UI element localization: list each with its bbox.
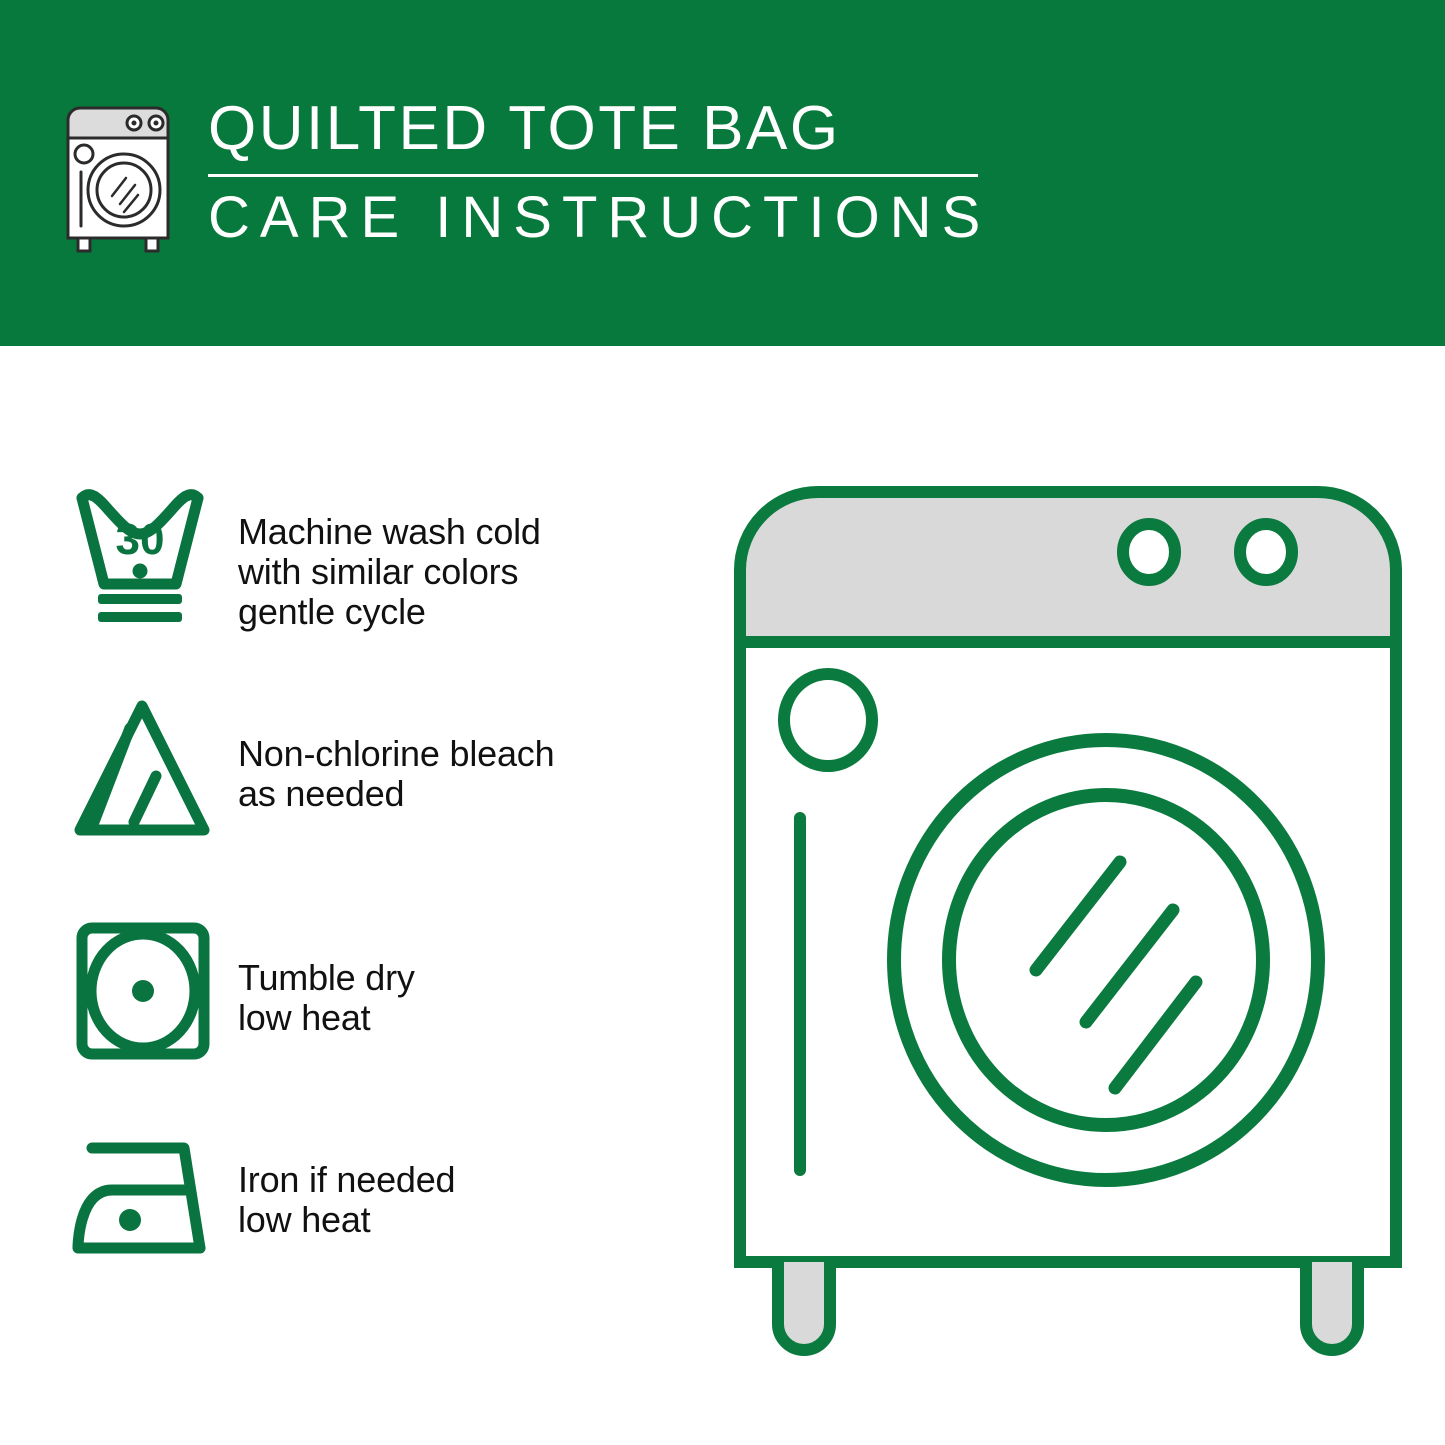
wash-basin-icon: 30 [68,482,226,632]
care-item-tumble-dry: Tumble dry low heat [68,916,688,1128]
iron-icon [68,1128,226,1268]
care-item-text: Non-chlorine bleach as needed [238,694,688,814]
title-divider [208,174,978,177]
page-subtitle: CARE INSTRUCTIONS [208,187,978,249]
wash-temp-label: 30 [116,515,165,564]
care-symbol-slot: 30 [68,482,238,632]
low-heat-dot [132,980,154,1002]
small-dial [784,674,872,766]
gentle-bar-2 [98,612,182,622]
leg-right [1306,1262,1358,1350]
care-item-text: Tumble dry low heat [238,916,688,1038]
gentle-dot [133,564,148,579]
care-symbol-slot [68,916,238,1066]
care-instructions-page: QUILTED TOTE BAG CARE INSTRUCTIONS 30 [0,0,1445,1445]
header-banner: QUILTED TOTE BAG CARE INSTRUCTIONS [0,0,1445,346]
tumble-dry-icon [68,916,226,1066]
care-symbol-slot [68,1128,238,1268]
low-heat-dot [119,1209,141,1231]
care-item-machine-wash: 30 Machine wash cold with similar colors… [68,482,688,694]
care-instruction-list: 30 Machine wash cold with similar colors… [68,482,688,1328]
header-content: QUILTED TOTE BAG CARE INSTRUCTIONS [62,96,1382,276]
care-item-bleach: Non-chlorine bleach as needed [68,694,688,916]
front-load-washing-machine-illustration [718,470,1418,1370]
gentle-bar-1 [98,594,182,604]
knob-right [1240,524,1292,580]
header-titles: QUILTED TOTE BAG CARE INSTRUCTIONS [208,96,978,249]
top-control-panel [740,492,1396,642]
drum-inner-ring [949,795,1263,1125]
care-symbol-slot [68,694,238,850]
leg-left [778,1262,830,1350]
washing-machine-icon [62,102,174,254]
knob-left [1123,524,1175,580]
bleach-triangle-icon [68,694,226,850]
care-item-text: Iron if needed low heat [238,1128,688,1240]
care-item-text: Machine wash cold with similar colors ge… [238,482,688,632]
page-title: QUILTED TOTE BAG [208,96,978,162]
care-item-iron: Iron if needed low heat [68,1128,688,1328]
